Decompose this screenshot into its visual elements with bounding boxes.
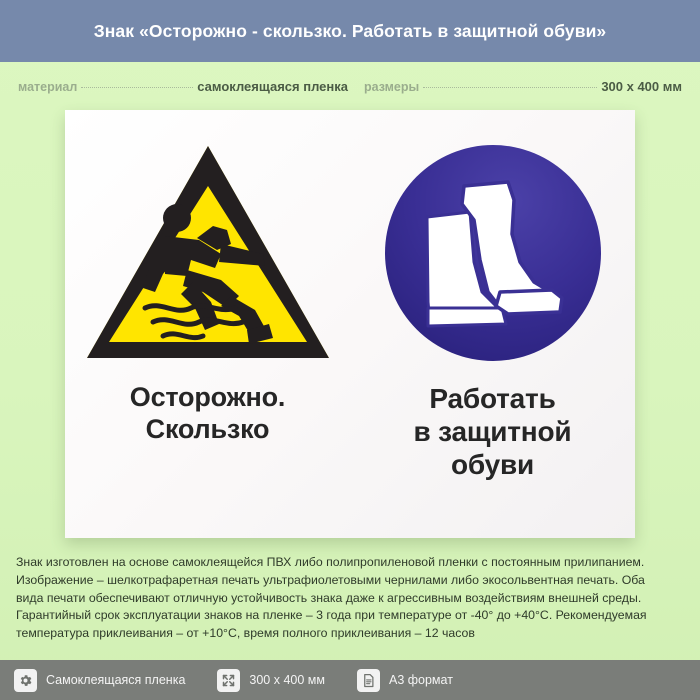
resize-arrows-icon bbox=[217, 669, 240, 692]
footer-badge-format-label: A3 формат bbox=[389, 673, 453, 687]
warning-sign-caption: Осторожно. Скользко bbox=[130, 382, 285, 446]
mandatory-sign-block: Работать в защитной обуви bbox=[350, 110, 635, 538]
sign-card-area: Осторожно. Скользко bbox=[0, 110, 700, 542]
document-icon bbox=[357, 669, 380, 692]
page-title: Знак «Осторожно - скользко. Работать в з… bbox=[94, 21, 607, 42]
mandatory-caption-line-3: обуви bbox=[414, 448, 572, 481]
spec-size-leader bbox=[423, 87, 597, 88]
description-line-1: Знак изготовлен на основе самоклеящейся … bbox=[16, 554, 684, 572]
spec-size: размеры 300 x 400 мм bbox=[364, 79, 682, 94]
mandatory-caption-line-2: в защитной bbox=[414, 415, 572, 448]
description-line-5: температура приклеивания – от +10°C, вре… bbox=[16, 625, 684, 643]
mandatory-caption-line-1: Работать bbox=[414, 382, 572, 415]
mandatory-sign-caption: Работать в защитной обуви bbox=[414, 382, 572, 481]
footer-badge-material-label: Самоклеящаяся пленка bbox=[46, 673, 185, 687]
specification-strip: материал самоклеящаяся пленка размеры 30… bbox=[0, 62, 700, 110]
sign-preview-card[interactable]: Осторожно. Скользко bbox=[65, 110, 635, 538]
footer-bar: Самоклеящаяся пленка 300 x 400 мм A3 bbox=[0, 660, 700, 700]
description-line-3: вида печати обеспечивают отличную устойч… bbox=[16, 590, 684, 608]
description-line-2: Изображение – шелкотрафаретная печать ул… bbox=[16, 572, 684, 590]
description-line-4: Гарантийный срок эксплуатации знаков на … bbox=[16, 607, 684, 625]
spec-size-value: 300 x 400 мм bbox=[601, 79, 682, 94]
spec-material-leader bbox=[81, 87, 193, 88]
mandatory-pictogram-box bbox=[382, 128, 604, 378]
spec-material-label: материал bbox=[18, 80, 77, 94]
warning-caption-line-1: Осторожно. bbox=[130, 382, 285, 414]
warning-caption-line-2: Скользко bbox=[130, 414, 285, 446]
spec-size-label: размеры bbox=[364, 80, 419, 94]
footer-badge-size-label: 300 x 400 мм bbox=[249, 673, 325, 687]
product-page: Знак «Осторожно - скользко. Работать в з… bbox=[0, 0, 700, 700]
gear-icon bbox=[14, 669, 37, 692]
slippery-surface-pictogram bbox=[83, 142, 333, 364]
warning-pictogram-box bbox=[83, 128, 333, 378]
safety-boots-pictogram bbox=[382, 142, 604, 364]
footer-badge-size[interactable]: 300 x 400 мм bbox=[217, 669, 325, 692]
spec-material: материал самоклеящаяся пленка bbox=[18, 79, 348, 94]
footer-badge-material[interactable]: Самоклеящаяся пленка bbox=[14, 669, 185, 692]
page-header: Знак «Осторожно - скользко. Работать в з… bbox=[0, 0, 700, 62]
product-description: Знак изготовлен на основе самоклеящейся … bbox=[0, 542, 700, 643]
footer-badge-format[interactable]: A3 формат bbox=[357, 669, 453, 692]
spec-material-value: самоклеящаяся пленка bbox=[197, 79, 348, 94]
warning-sign-block: Осторожно. Скользко bbox=[65, 110, 350, 538]
